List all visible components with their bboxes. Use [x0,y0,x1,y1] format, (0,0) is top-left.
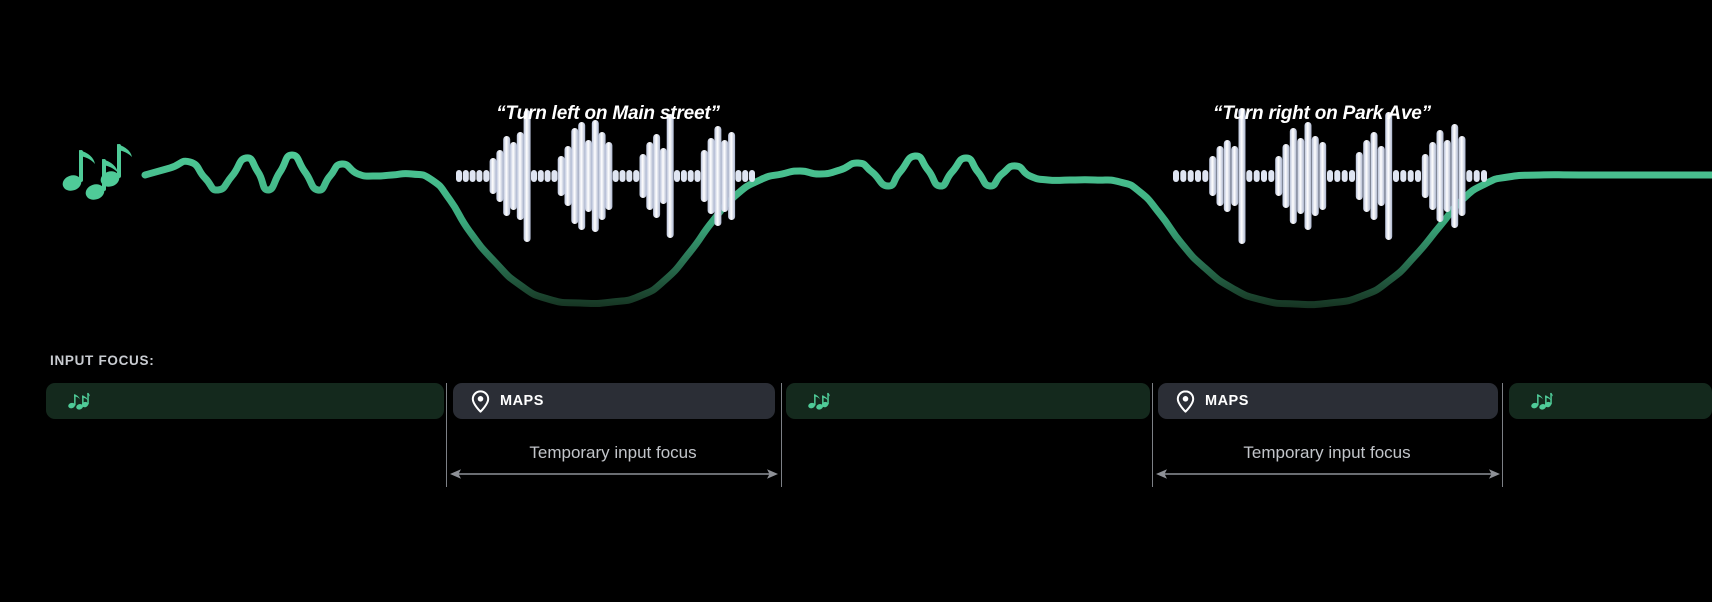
waveform-bar [640,154,647,198]
waveform-bar [728,132,735,220]
double-headed-arrow-icon [450,467,778,481]
waveform-bar [470,170,476,182]
waveform-bar [578,122,585,230]
waveform-bar [476,170,482,182]
music-note-icon [61,144,132,202]
waveform-bar [1173,170,1179,182]
waveform-bar [1444,140,1451,212]
focus-boundary-line-4 [1502,383,1503,487]
waveform-bar [1459,136,1466,216]
focus-boundary-line-3 [1152,383,1153,487]
waveform-bar [510,142,517,210]
waveform-bar [1378,146,1385,206]
transcript-quote-2: “Turn right on Park Ave” [1213,103,1431,125]
waveform-bar [592,120,599,232]
focus-boundary-line-2 [781,383,782,487]
music-note-icon [68,392,90,410]
waveform-bar [1202,170,1208,182]
waveform-bar [1224,140,1231,212]
waveform-bar [701,150,708,202]
waveform-bar [646,142,653,210]
waveform-bar [714,126,721,226]
waveform-bar [517,132,524,220]
waveform-bar [1349,170,1355,182]
waveform-bar [605,142,612,210]
focus-chip-maps-4[interactable]: MAPS [1158,383,1498,419]
waveform-bar [667,114,674,238]
waveform-bar [558,156,565,196]
temporary-focus-arrow-1 [450,467,778,481]
waveform-bar [1231,146,1238,206]
focus-chip-maps-2[interactable]: MAPS [453,383,775,419]
waveform-bar [1400,170,1406,182]
waveform-bar [1371,132,1378,220]
waveform-bar [688,170,694,182]
location-pin-icon [1176,390,1195,413]
music-note-icon [808,392,830,410]
waveform-bar [749,170,755,182]
double-headed-arrow-icon [1156,467,1500,481]
waveform-bar [1246,170,1252,182]
waveform-bar [1342,170,1348,182]
location-pin-icon [471,390,490,413]
temporary-focus-caption-1: Temporary input focus [529,443,696,463]
waveform-bar [1239,108,1246,244]
waveform-bar [1393,170,1399,182]
waveform-bar [524,110,531,242]
waveform-bar [1437,130,1444,222]
waveform-bar [1481,170,1487,182]
waveform-bar [1217,146,1224,206]
waveform-bar [708,138,715,214]
waveform-bar [1195,170,1201,182]
waveform-bar [1363,140,1370,212]
focus-chip-label: MAPS [500,393,544,409]
waveform-bar [538,170,544,182]
waveform-bar [1254,170,1260,182]
temporary-focus-arrow-2 [1156,467,1500,481]
waveform-bar [1275,156,1282,196]
waveform-bar [620,170,626,182]
waveform-bar [1327,170,1333,182]
focus-chip-music-5[interactable] [1509,383,1712,419]
waveform-bar [660,148,667,204]
waveform-bar [1429,142,1436,210]
waveform-bar [571,128,578,224]
waveform-bar [1188,170,1194,182]
waveform-bar [1422,154,1429,198]
focus-chip-label: MAPS [1205,393,1249,409]
waveform-bar [1268,170,1274,182]
waveform-bar [1474,170,1480,182]
waveform-bar [599,132,606,220]
waveform-bar [490,158,497,194]
waveform-bar [1312,136,1319,216]
waveform-bar [585,140,592,212]
audio-timeline: “Turn left on Main street” “Turn right o… [0,0,1712,340]
music-note-icon [1531,392,1553,410]
waveform-canvas [0,0,1712,340]
waveform-bar [653,134,660,218]
waveform-bar [1283,144,1290,208]
waveform-bar [613,170,619,182]
canvas: “Turn left on Main street” “Turn right o… [0,0,1712,602]
waveform-bar [1180,170,1186,182]
transcript-quote-1: “Turn left on Main street” [496,103,720,125]
waveform-bar [496,150,503,202]
waveform-bar [1290,128,1297,224]
focus-boundary-line-1 [446,383,447,487]
waveform-bar [1305,122,1312,230]
waveform-bar [1385,112,1392,240]
waveform-bar [531,170,537,182]
waveform-bar [1261,170,1267,182]
waveform-bar [735,170,741,182]
waveform-bar [681,170,687,182]
waveform-bar [483,170,489,182]
focus-chip-music-3[interactable] [786,383,1150,419]
waveform-bar [1451,124,1458,228]
waveform-bar [1415,170,1421,182]
waveform-bar [503,136,510,216]
waveform-bar [1209,156,1216,196]
waveform-bar [1334,170,1340,182]
waveform-bar [463,170,469,182]
waveform-bar [551,170,557,182]
waveform-bar [695,170,701,182]
waveform-bar [626,170,632,182]
waveform-bar [674,170,680,182]
waveform-bar [545,170,551,182]
focus-chip-music-1[interactable] [46,383,444,419]
temporary-focus-caption-2: Temporary input focus [1243,443,1410,463]
speech-waveform-bars [456,108,1487,244]
waveform-bar [1466,170,1472,182]
focus-chip-track: MAPS MAPS [0,383,1712,423]
waveform-bar [565,146,572,206]
waveform-bar [1297,138,1304,214]
waveform-bar [456,170,462,182]
waveform-bar [1408,170,1414,182]
waveform-bar [721,140,728,212]
waveform-bar [1356,152,1363,200]
waveform-bar [742,170,748,182]
input-focus-label: INPUT FOCUS: [50,353,154,368]
waveform-bar [633,170,639,182]
waveform-bar [1319,142,1326,210]
